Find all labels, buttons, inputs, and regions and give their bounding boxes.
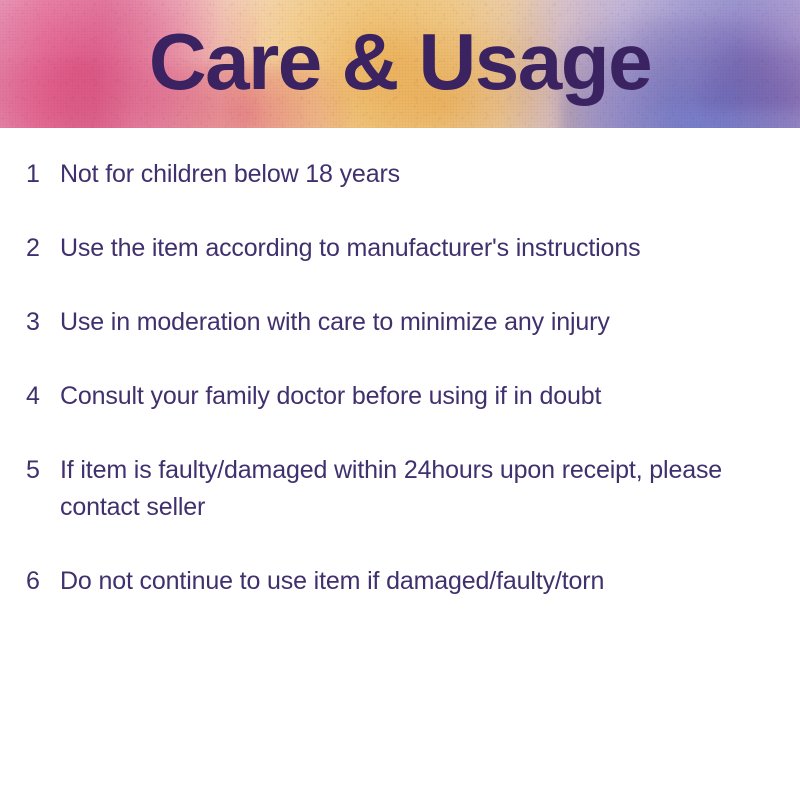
list-item-text: Do not continue to use item if damaged/f…: [60, 563, 760, 600]
list-item-number: 2: [26, 230, 60, 267]
care-and-usage-page: Care & Usage 1 Not for children below 18…: [0, 0, 800, 800]
list-item: 4 Consult your family doctor before usin…: [0, 378, 800, 415]
list-item: 5 If item is faulty/damaged within 24hou…: [0, 452, 800, 526]
list-item-number: 5: [26, 452, 60, 489]
list-item-number: 6: [26, 563, 60, 600]
watercolor-header-band: Care & Usage: [0, 0, 800, 128]
care-instructions-list: 1 Not for children below 18 years 2 Use …: [0, 128, 800, 637]
list-item-number: 3: [26, 304, 60, 341]
list-item-text: If item is faulty/damaged within 24hours…: [60, 452, 760, 526]
list-item: 2 Use the item according to manufacturer…: [0, 230, 800, 267]
list-item: 3 Use in moderation with care to minimiz…: [0, 304, 800, 341]
list-item-number: 1: [26, 156, 60, 193]
list-item: 1 Not for children below 18 years: [0, 156, 800, 193]
list-item-text: Use in moderation with care to minimize …: [60, 304, 760, 341]
list-item-text: Use the item according to manufacturer's…: [60, 230, 760, 267]
list-item: 6 Do not continue to use item if damaged…: [0, 563, 800, 600]
list-item-number: 4: [26, 378, 60, 415]
list-item-text: Consult your family doctor before using …: [60, 378, 760, 415]
list-item-text: Not for children below 18 years: [60, 156, 760, 193]
page-title: Care & Usage: [0, 0, 800, 128]
